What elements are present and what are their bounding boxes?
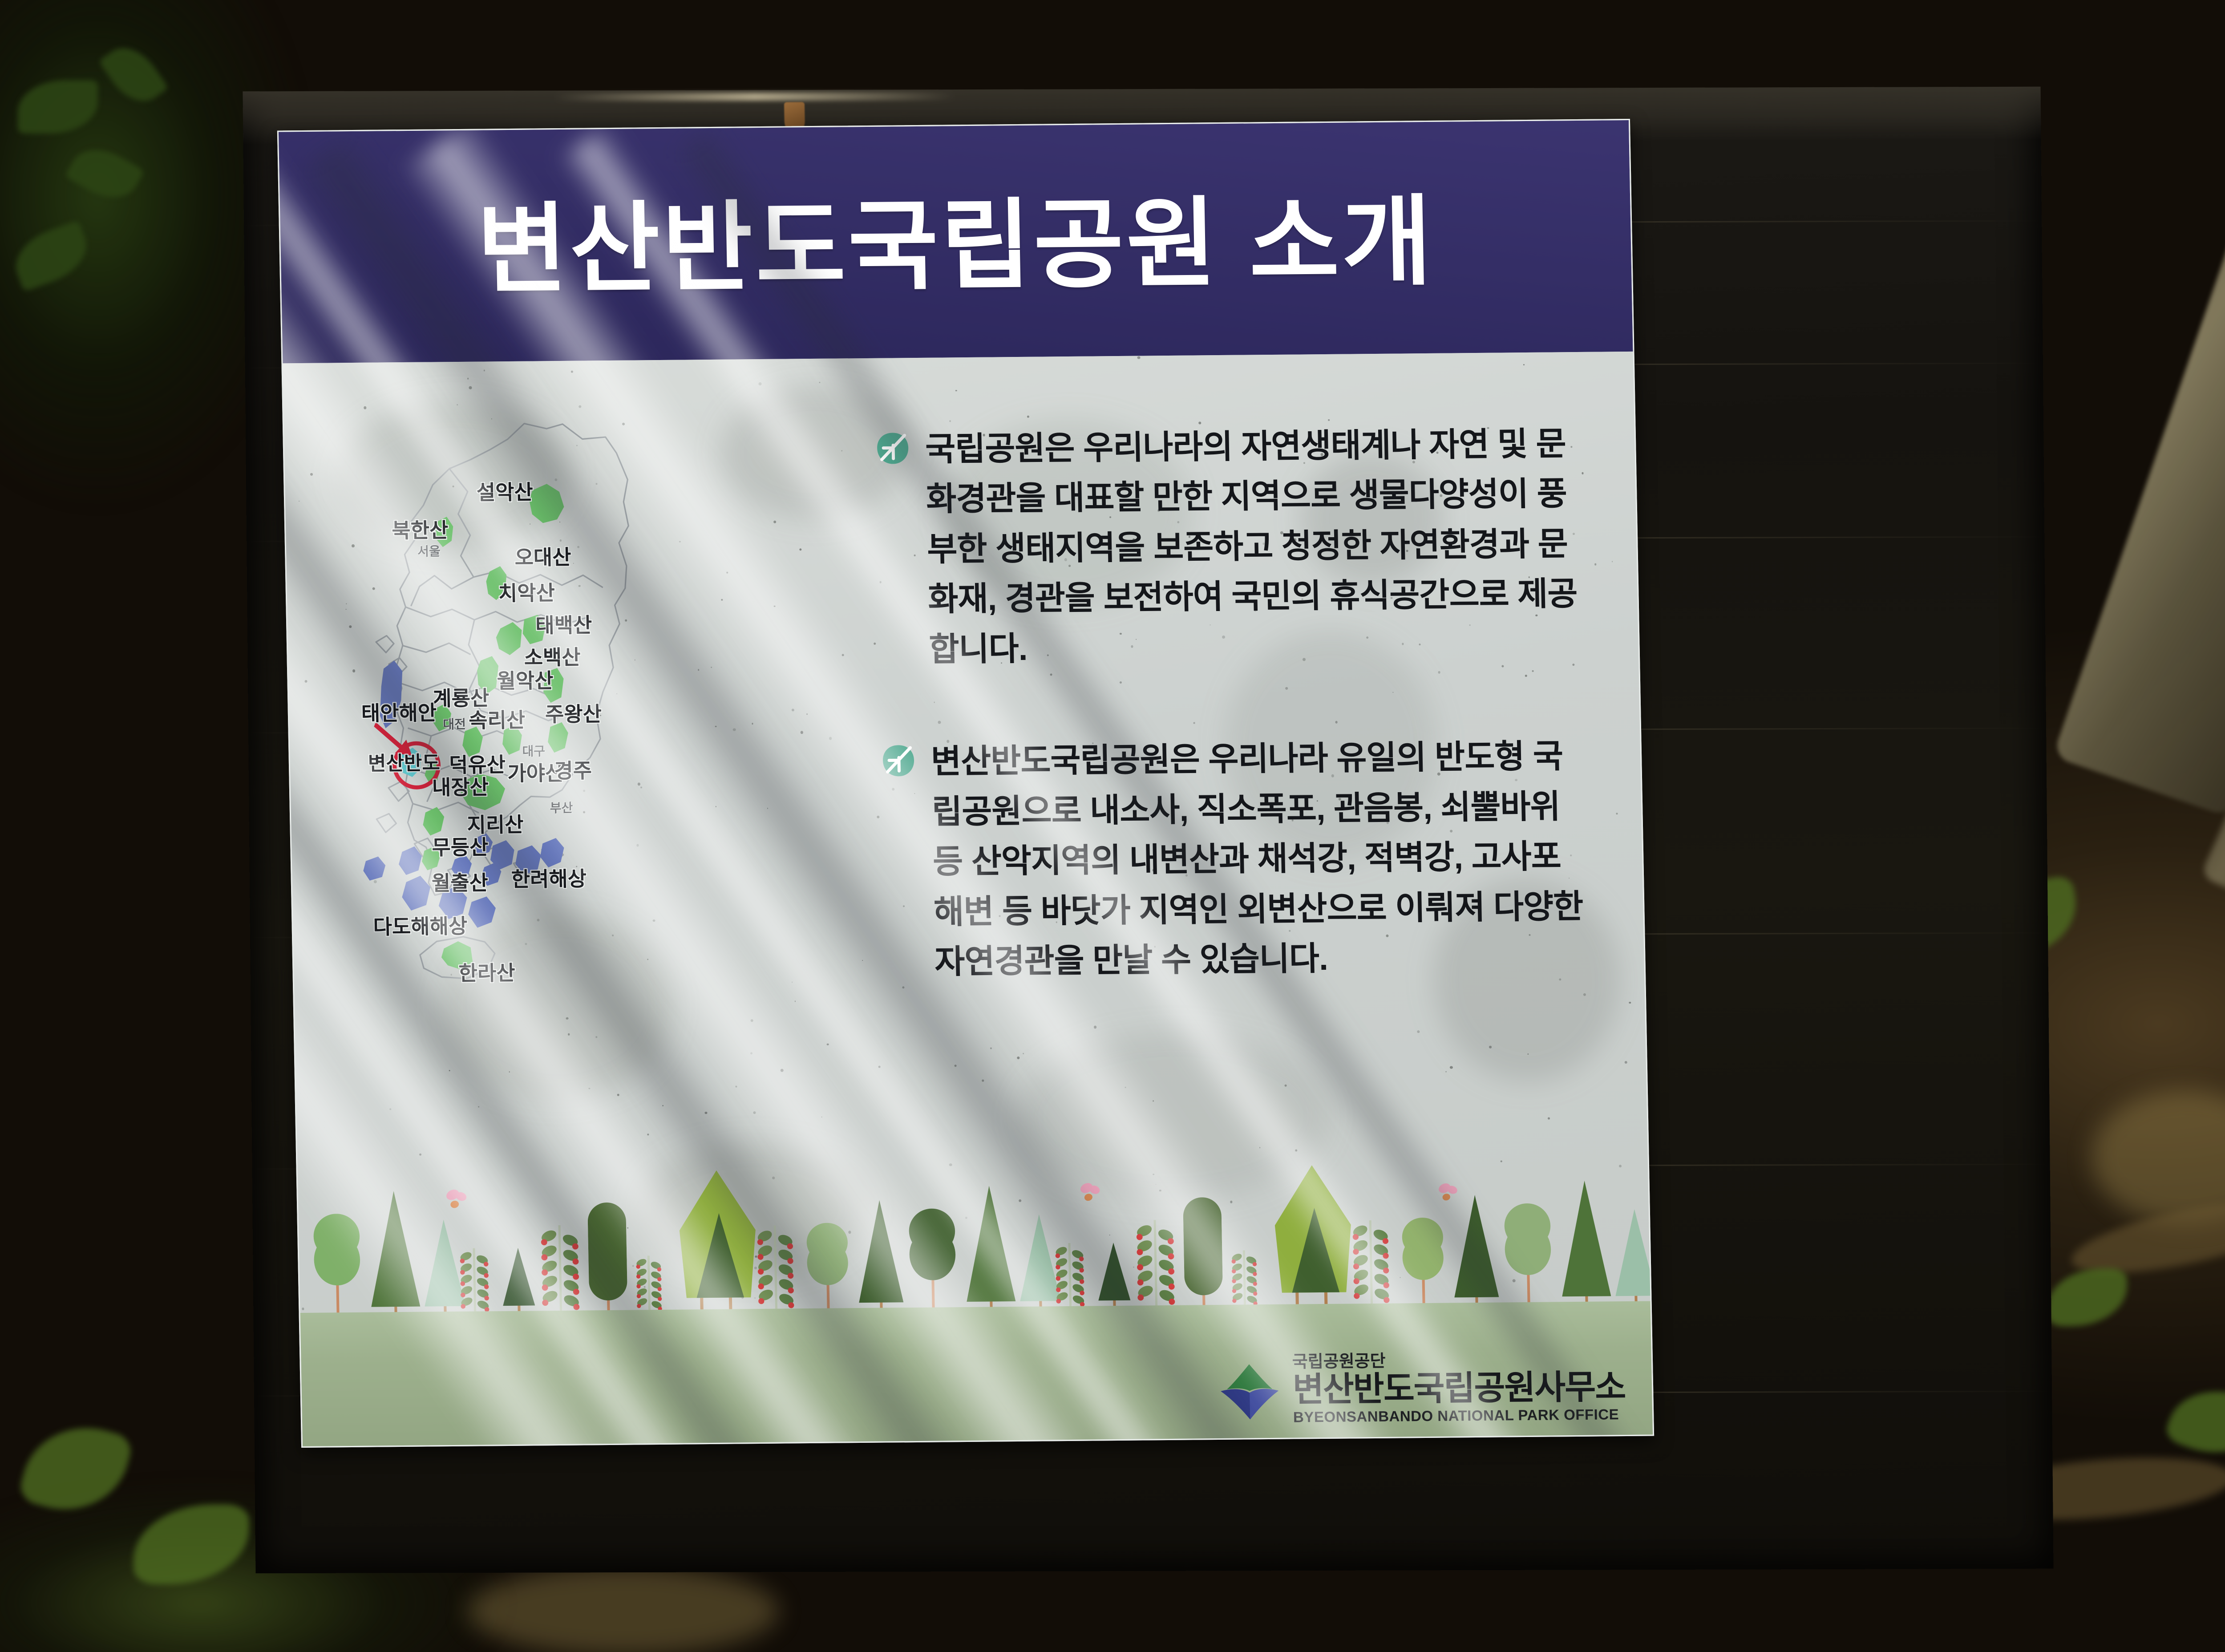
paper-speck [878,1065,881,1068]
butterfly-icon [445,1187,469,1211]
paper-speck [469,386,472,389]
map-park-label: 월출산 [431,866,488,896]
sign-panel-face: 변산반도국립공원 소개 [277,119,1654,1448]
map-park-label: 설악산 [476,476,533,506]
paper-speck [1612,561,1613,563]
paper-speck [1616,813,1618,814]
paper-speck [299,501,300,502]
forest-illustration-band: 국립공원공단 변산반도국립공원사무소 BYEONSANBANDO NATIONA… [298,1159,1653,1446]
paragraph-1: 국립공원은 우리나라의 자연생태계나 자연 및 문화경관을 대표할 만한 지역으… [876,419,1583,675]
map-park-label: 무등산 [432,831,489,861]
map-city-label: 서울 [417,542,441,559]
paper-speck [467,378,469,380]
map-city-label: 부산 [550,798,573,816]
paper-speck [1629,1002,1631,1004]
korea-national-parks-map: 설악산북한산오대산치악산태백산소백산월악산계룡산속리산주왕산태안해안덕유산가야산… [315,394,855,1244]
berry-bush-icon [755,1225,796,1312]
berry-bush-icon [1351,1220,1392,1308]
conifer-tree-icon [857,1200,904,1312]
map-park-label: 내장산 [432,771,489,801]
paper-speck [1284,1085,1286,1087]
map-park-label: 태안해안 [361,696,437,726]
information-sign-panel: 변산반도국립공원 소개 [277,119,1654,1448]
paper-speck [305,680,307,683]
columnar-tree-icon [587,1203,628,1314]
deciduous-tree-icon [805,1223,850,1312]
berry-bush-icon [635,1255,663,1314]
logo-office-name-en: BYEONSANBANDO NATIONAL PARK OFFICE [1293,1407,1626,1425]
paper-speck [874,642,876,644]
paper-speck [483,370,485,372]
paper-speck [1137,356,1141,359]
paragraph-1-text: 국립공원은 우리나라의 자연생태계나 자연 및 문화경관을 대표할 만한 지역으… [925,419,1583,675]
paper-speck [1450,1066,1453,1069]
map-park-label: 변산반도 [368,747,440,776]
paper-speck [955,1065,957,1067]
berry-bush-icon [458,1248,491,1315]
map-park-label: 월악산 [497,664,554,694]
paper-speck [571,371,573,373]
background-detail [467,1567,779,1652]
map-park-label: 속리산 [469,704,526,734]
paper-speck [1548,1118,1550,1120]
paper-speck [1625,1061,1627,1064]
paragraph-2: 변산반도국립공원은 우리나라 유일의 반도형 국립공원으로 내소사, 직소폭포,… [882,731,1589,988]
sign-body: 설악산북한산오대산치악산태백산소백산월악산계룡산속리산주왕산태안해안덕유산가야산… [283,352,1653,1446]
paper-speck [949,420,951,422]
footer-logo-text: 국립공원공단 변산반도국립공원사무소 BYEONSANBANDO NATIONA… [1292,1351,1626,1424]
paper-speck [1027,415,1029,417]
map-park-label: 북한산 [392,514,449,544]
large-pine-tree-icon [674,1170,761,1313]
map-city-label: 대구 [522,741,545,759]
map-park-label: 주왕산 [545,698,602,728]
deciduous-tree-icon [907,1208,958,1311]
conifer-tree-icon [369,1191,421,1316]
deciduous-tree-icon [311,1214,362,1316]
berry-bush-icon [1134,1220,1177,1309]
sign-header-bar: 변산반도국립공원 소개 [279,120,1633,363]
butterfly-icon [1079,1180,1102,1203]
columnar-tree-icon [1183,1197,1223,1309]
paper-speck [1489,1046,1492,1049]
berry-bush-icon [539,1225,582,1315]
paper-speck [758,382,761,385]
paper-speck [1594,563,1596,565]
paper-speck [1582,472,1583,474]
deciduous-tree-icon [1400,1218,1446,1307]
paper-speck [955,390,957,392]
deciduous-tree-icon [1503,1203,1553,1306]
map-park-label: 다도해해상 [373,910,468,940]
footer-logo: 국립공원공단 변산반도국립공원사무소 BYEONSANBANDO NATIONA… [1215,1351,1626,1425]
photo-scene: 변산반도국립공원 소개 [0,0,2225,1652]
conifer-tree-icon [1614,1209,1653,1305]
paper-speck [310,473,313,476]
paragraph-2-text: 변산반도국립공원은 우리나라 유일의 반도형 국립공원으로 내소사, 직소폭포,… [930,731,1589,987]
paper-speck [1445,1071,1447,1073]
conifer-tree-icon [1452,1195,1499,1307]
leaf-icon [876,431,909,466]
paper-speck [1295,1149,1297,1151]
description-text-column: 국립공원은 우리나라의 자연생태계나 자연 및 문화경관을 대표할 만한 지역으… [876,419,1590,1050]
map-park-label: 한려해상 [511,862,587,892]
map-park-label: 오대산 [514,541,571,571]
page-title: 변산반도국립공원 소개 [476,162,1436,312]
paper-speck [819,382,821,383]
leaf-icon [882,743,915,778]
paper-speck [1523,364,1525,365]
board-sun-glint [554,92,955,101]
berry-bush-icon [1054,1243,1086,1310]
conifer-tree-icon [1097,1243,1131,1310]
paper-speck [862,960,863,961]
national-park-service-logo-icon [1216,1356,1284,1423]
paper-speck [1017,1057,1019,1059]
paper-speck [982,1080,984,1082]
conifer-tree-icon [502,1247,535,1315]
logo-office-name: 변산반도국립공원사무소 [1292,1370,1626,1407]
conifer-tree-icon [965,1186,1016,1311]
conifer-tree-icon [1560,1180,1611,1305]
map-park-label: 한라산 [458,957,515,987]
paper-speck [877,816,879,818]
paper-speck [1023,1053,1024,1054]
map-park-label: 태백산 [535,609,592,639]
berry-bush-icon [1230,1250,1258,1308]
logo-agency-name: 국립공원공단 [1292,1351,1625,1371]
butterfly-icon [1437,1181,1460,1203]
map-park-label: 치악산 [498,577,555,607]
map-park-label: 경주 [554,754,592,784]
map-city-label: 대전 [443,715,466,733]
large-pine-tree-icon [1270,1165,1357,1308]
